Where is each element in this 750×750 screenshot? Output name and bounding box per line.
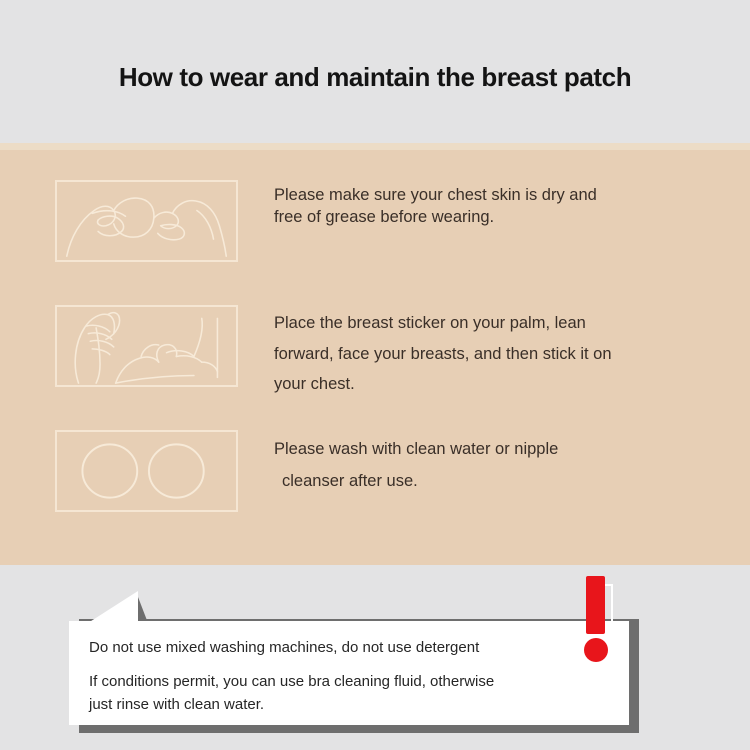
red-exclamation-mark-icon: [578, 574, 628, 666]
two-hands-holding-patch-illustration: [55, 180, 238, 262]
step-line: free of grease before wearing.: [274, 207, 712, 229]
step-line: Place the breast sticker on your palm, l…: [274, 308, 712, 339]
page-title: How to wear and maintain the breast patc…: [0, 62, 750, 93]
step-row: Please make sure your chest skin is dry …: [0, 173, 750, 278]
exclamation-dot: [584, 638, 608, 662]
step-description: Please wash with clean water or nipple c…: [274, 433, 712, 497]
warning-callout-box: Do not use mixed washing machines, do no…: [69, 621, 629, 725]
background-watermark: [165, 18, 595, 66]
header-band: How to wear and maintain the breast patc…: [0, 0, 750, 143]
step-line: forward, face your breasts, and then sti…: [274, 339, 712, 370]
footer-band: Do not use mixed washing machines, do no…: [0, 565, 750, 750]
step-row: Please wash with clean water or nipple c…: [0, 423, 750, 528]
exclamation-bar: [586, 576, 605, 634]
step-line: your chest.: [274, 369, 712, 400]
warning-line: just rinse with clean water.: [89, 696, 264, 713]
hand-applying-patch-to-chest-illustration: [55, 305, 238, 387]
steps-band-top-highlight: [0, 143, 750, 150]
speech-bubble-tail: [88, 591, 148, 623]
warning-line: Do not use mixed washing machines, do no…: [89, 639, 479, 656]
step-row: Place the breast sticker on your palm, l…: [0, 298, 750, 403]
step-line: Please make sure your chest skin is dry …: [274, 185, 712, 207]
step-line: cleanser after use.: [274, 465, 712, 497]
two-round-patches-illustration: [55, 430, 238, 512]
infographic-page: How to wear and maintain the breast patc…: [0, 0, 750, 750]
steps-band: Please make sure your chest skin is dry …: [0, 143, 750, 565]
step-description: Place the breast sticker on your palm, l…: [274, 308, 712, 400]
step-description: Please make sure your chest skin is dry …: [274, 185, 712, 229]
warning-line: If conditions permit, you can use bra cl…: [89, 673, 494, 690]
step-line: Please wash with clean water or nipple: [274, 433, 712, 465]
